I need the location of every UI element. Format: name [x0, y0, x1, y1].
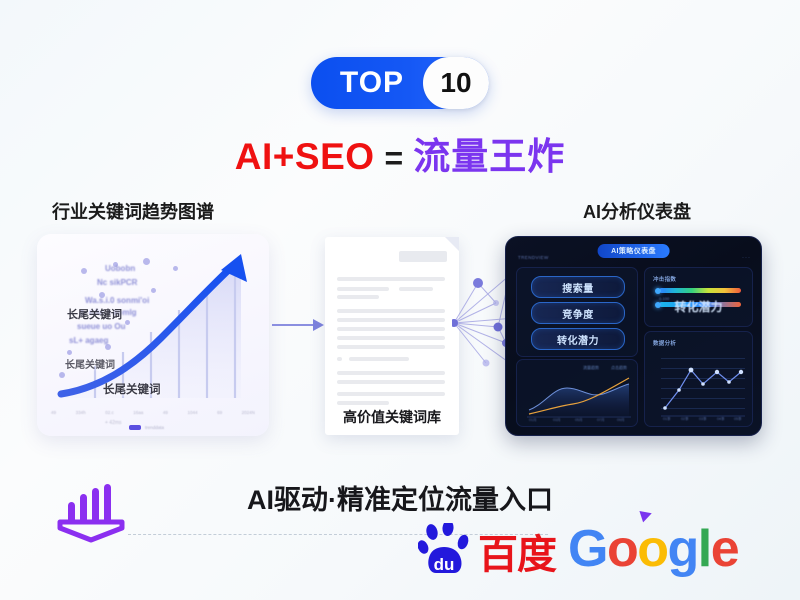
- axis-tick-1: 334h: [76, 410, 86, 415]
- headline-equals: =: [385, 140, 404, 176]
- dashboard-brand-label: TRENDVIEW: [518, 255, 549, 260]
- top-badge-number: 10: [423, 57, 489, 109]
- metric-pill-competition[interactable]: 竞争度: [531, 302, 625, 324]
- line-tick-4: 05季: [734, 417, 742, 422]
- right-arrow-icon: [272, 318, 324, 332]
- area-tick-0: 01月: [529, 418, 537, 423]
- metric-pill-conversion[interactable]: 转化潜力: [531, 328, 625, 350]
- analytics-line-chart-panel: 数据分析 01季 02季 03季 04季 05季: [644, 331, 753, 427]
- impact-gauge-panel: 冲击指数 0-100 转化潜力: [644, 267, 753, 327]
- blur-tag-1: Nc sikPCR: [97, 278, 137, 287]
- baidu-logo: du 百度: [418, 523, 556, 575]
- axis-tick-0: 49: [51, 410, 56, 415]
- google-letter-4: l: [698, 520, 711, 578]
- line-tick-2: 03季: [699, 417, 707, 422]
- keyword-label-1: 长尾关键词: [65, 356, 115, 371]
- area-tick-3: 07月: [597, 418, 605, 423]
- dashboard-title-badge: AI策略仪表盘: [597, 244, 670, 258]
- baidu-paw-icon: du: [418, 523, 476, 575]
- top-badge-word: TOP: [311, 66, 423, 100]
- metric-pill-search-volume[interactable]: 搜索量: [531, 276, 625, 298]
- search-engine-logos: du 百度 Google: [418, 518, 738, 580]
- axis-tick-5: 1044: [187, 410, 197, 415]
- axis-tick-6: 69: [217, 410, 222, 415]
- legend-label: trenddata: [145, 425, 164, 430]
- axis-tick-2: 02.c: [105, 410, 114, 415]
- blur-tag-5: sL+ agaeg: [69, 336, 108, 345]
- slide-canvas: TOP 10 AI+SEO=流量王炸 行业关键词趋势图谱 AI分析仪表盘: [0, 0, 800, 600]
- area-tick-4: 09月: [617, 418, 625, 423]
- headline-left: AI+SEO: [235, 136, 375, 177]
- google-letter-5: e: [711, 520, 738, 578]
- area-legend-1: 点击趋势: [611, 365, 627, 371]
- bar-chart-funnel-icon: [48, 482, 134, 546]
- section-caption-left: 行业关键词趋势图谱: [52, 198, 214, 224]
- trend-chart-legend: trenddata: [129, 425, 164, 430]
- trend-chart-plot: Uobobn Nc sikPCR Wa.s.i.0 sonmi'oi oAe.s…: [55, 248, 251, 398]
- dashboard-menu-icon[interactable]: ···: [742, 255, 751, 261]
- trend-chart-sublabel: + 42ms: [105, 420, 122, 426]
- gauge-panel-title: 冲击指数: [653, 275, 676, 283]
- blur-tag-0: Uobobn: [105, 264, 135, 273]
- line-tick-1: 02季: [681, 417, 689, 422]
- area-legend-0: 流量趋势: [583, 365, 599, 371]
- doc-header-chip: [399, 251, 447, 262]
- top-rank-badge: TOP 10: [311, 57, 489, 109]
- section-caption-right: AI分析仪表盘: [583, 198, 691, 224]
- area-tick-1: 03月: [553, 418, 561, 423]
- google-letter-2: o: [637, 520, 667, 578]
- svg-text:du: du: [434, 555, 455, 574]
- google-logo: Google: [568, 523, 738, 575]
- keyword-label-2: 长尾关键词: [103, 381, 161, 397]
- trend-chart-axis: 49 334h 02.c 16aa 49 1044 69 2024N: [51, 410, 255, 415]
- traffic-area-chart-panel: 流量趋势 点击趋势 01月 03月 05月 07月 09月: [516, 359, 638, 427]
- analytics-line-svg: [645, 332, 752, 426]
- google-letter-0: G: [568, 520, 607, 578]
- keyword-label-0: 长尾关键词: [67, 306, 122, 322]
- google-letter-1: o: [607, 520, 637, 578]
- page-fold-icon: [445, 237, 459, 251]
- google-letter-3: g: [667, 520, 697, 578]
- axis-tick-4: 49: [163, 410, 168, 415]
- headline-right: 流量王炸: [413, 136, 565, 177]
- area-tick-2: 05月: [575, 418, 583, 423]
- keyword-library-document: 高价值关键词库: [325, 237, 459, 435]
- line-tick-3: 04季: [717, 417, 725, 422]
- page-title: AI+SEO=流量王炸: [0, 126, 800, 180]
- line-tick-0: 01季: [663, 417, 671, 422]
- document-caption: 高价值关键词库: [325, 407, 459, 427]
- gauge-overlay-label: 转化潜力: [645, 298, 752, 315]
- blur-tag-2: Wa.s.i.0 sonmi'oi: [85, 296, 149, 305]
- axis-tick-7: 2024N: [242, 410, 255, 415]
- blur-tag-4: sueue uo Ou: [77, 322, 125, 331]
- metric-pills-panel: 搜索量 竞争度 转化潜力: [516, 267, 638, 357]
- trend-chart-card: Uobobn Nc sikPCR Wa.s.i.0 sonmi'oi oAe.s…: [37, 234, 269, 436]
- baidu-wordmark: 百度: [478, 535, 556, 575]
- ai-dashboard-panel: AI策略仪表盘 TRENDVIEW ··· 搜索量 竞争度 转化潜力 冲击指数 …: [505, 236, 762, 436]
- legend-swatch: [129, 425, 141, 430]
- axis-tick-3: 16aa: [133, 410, 143, 415]
